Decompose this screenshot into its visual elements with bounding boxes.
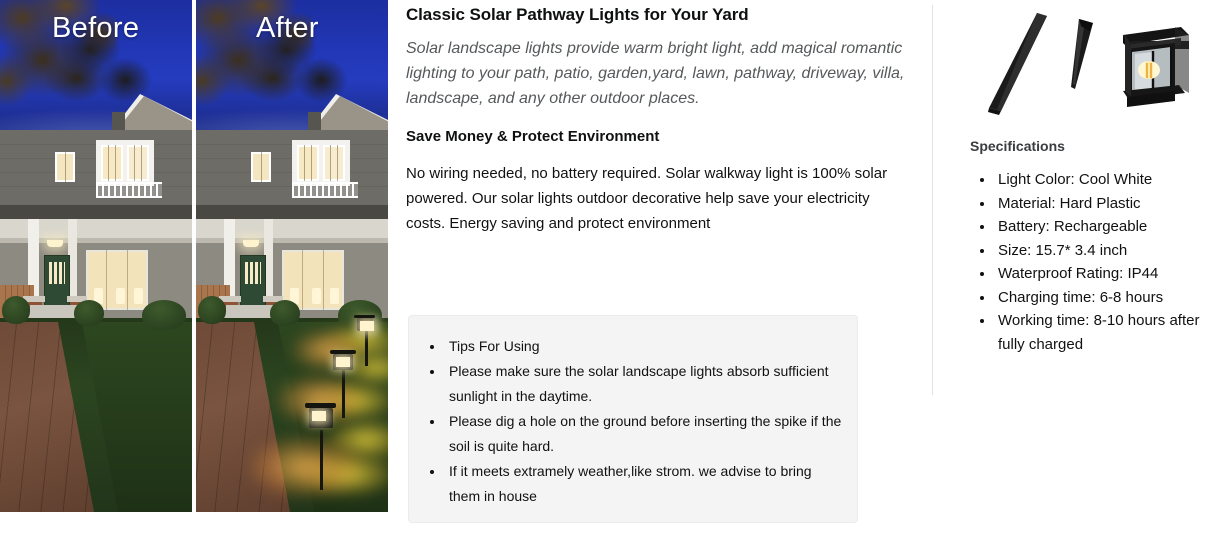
list-item: If it meets extramely weather,like strom… [445,459,843,509]
after-label: After [256,12,319,45]
list-item: Tips For Using [445,334,843,359]
pathway-lamp-top-mid [330,350,356,354]
spike-icon [1071,19,1093,89]
column-divider [932,5,933,395]
product-parts-image[interactable] [975,5,1205,125]
before-after-gallery: Before [0,0,390,512]
pathway-lamp-top-near [305,403,336,408]
list-item: Light Color: Cool White [995,168,1220,192]
pathway-lamp-head-near [309,408,333,428]
pathway-lamp-post-near [320,430,323,490]
list-item: Please make sure the solar landscape lig… [445,359,843,409]
product-detail-page: Before [0,0,1220,545]
pathway-lamp-top-far [354,315,375,318]
section-subheading: Save Money & Protect Environment [406,128,906,145]
pathway-lamp-head-mid [333,354,353,370]
tips-list: Tips For Using Please make sure the sola… [409,316,857,509]
page-title: Classic Solar Pathway Lights for Your Ya… [406,5,906,25]
bush-right [270,300,300,326]
porch-roof [196,205,388,219]
pathway-lamp-post-far [365,330,368,366]
upper-window-right [323,145,345,181]
pathway-lamp-head-far [357,318,373,331]
upper-window-left [101,145,123,181]
porch-roof [0,205,192,219]
product-subtitle: Solar landscape lights provide warm brig… [406,36,906,111]
list-item: Working time: 8-10 hours after fully cha… [995,309,1220,356]
balcony-railing [96,182,162,198]
description-paragraph: No wiring needed, no battery required. S… [406,161,906,236]
path-glow-near [248,436,360,498]
upper-window-left [297,145,319,181]
before-label: Before [52,12,139,45]
bush-left [198,296,226,324]
list-item: Battery: Rechargeable [995,215,1220,239]
before-photo[interactable]: Before [0,0,192,512]
upper-window-right [127,145,149,181]
upper-window-side [55,152,75,182]
bush-right [74,300,104,326]
specifications-list: Light Color: Cool White Material: Hard P… [970,168,1220,356]
bush-far-right [142,300,186,330]
specifications-heading: Specifications [970,138,1065,154]
list-item: Size: 15.7* 3.4 inch [995,239,1220,263]
upper-window-side [251,152,271,182]
list-item: Charging time: 6-8 hours [995,286,1220,310]
bush-left [2,296,30,324]
porch-ceiling-light [243,240,259,247]
list-item: Please dig a hole on the ground before i… [445,409,843,459]
list-item: Material: Hard Plastic [995,192,1220,216]
pole-icon [988,13,1047,115]
after-photo[interactable]: After [196,0,388,512]
list-item: Waterproof Rating: IP44 [995,262,1220,286]
tips-callout-box: Tips For Using Please make sure the sola… [408,315,858,523]
pathway-lamp-post-mid [342,370,345,418]
lantern-head-icon [1123,27,1189,107]
balcony-railing [292,182,358,198]
porch-ceiling-light [47,240,63,247]
product-copy-column: Classic Solar Pathway Lights for Your Ya… [406,0,906,236]
